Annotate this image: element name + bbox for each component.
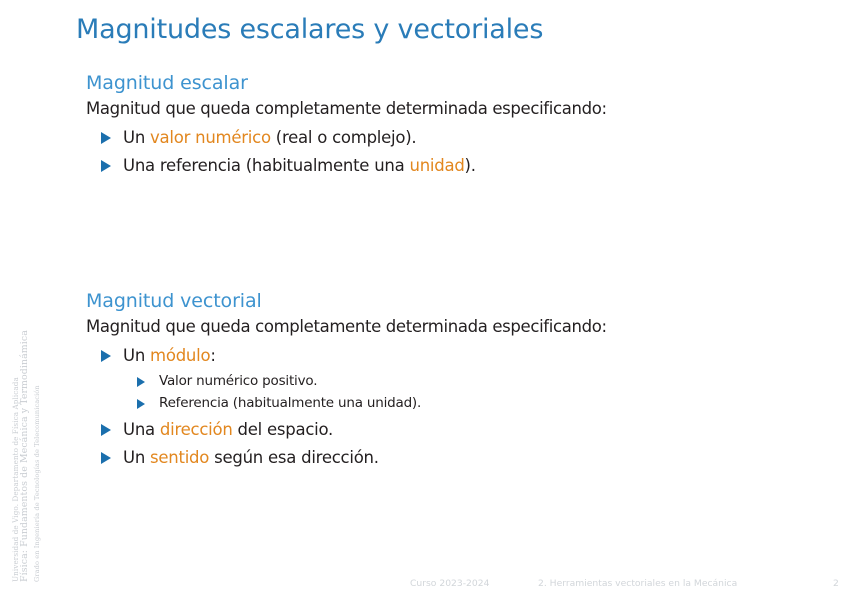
sidebar-institution-strip: Universidad de Vigo. Departamento de Fís… — [0, 0, 46, 600]
sub-bullet-list-modulo: Valor numérico positivo. Referencia (hab… — [123, 371, 826, 415]
triangle-bullet-icon — [101, 132, 111, 144]
sidebar-line-course: Física: Fundamentos de Mecánica y Termod… — [19, 330, 30, 582]
slide-canvas: Universidad de Vigo. Departamento de Fís… — [0, 0, 848, 600]
section-intro-vectorial: Magnitud que queda completamente determi… — [86, 317, 826, 336]
item-text-pre: Una — [123, 420, 160, 439]
triangle-bullet-icon — [101, 424, 111, 436]
item-keyword: módulo — [150, 346, 210, 365]
list-item: Un sentido según esa dirección. — [86, 444, 826, 472]
footer-page-number: 2 — [833, 578, 839, 589]
item-text-post: : — [210, 346, 215, 365]
footer-course: Curso 2023-2024 — [410, 578, 489, 589]
section-heading-escalar: Magnitud escalar — [86, 72, 826, 94]
triangle-bullet-icon — [101, 350, 111, 362]
triangle-bullet-icon — [137, 377, 145, 387]
page-title: Magnitudes escalares y vectoriales — [76, 14, 543, 45]
item-keyword: unidad — [409, 156, 464, 175]
item-text-post: del espacio. — [233, 420, 334, 439]
bullet-list-escalar: Un valor numérico (real o complejo). Una… — [86, 124, 826, 179]
section-heading-vectorial: Magnitud vectorial — [86, 290, 826, 312]
section-magnitud-vectorial: Magnitud vectorial Magnitud que queda co… — [86, 290, 826, 472]
sub-item-text: Valor numérico positivo. — [159, 373, 317, 389]
item-text-pre: Un — [123, 346, 150, 365]
section-intro-escalar: Magnitud que queda completamente determi… — [86, 99, 826, 118]
list-item: Una dirección del espacio. — [86, 416, 826, 444]
list-item: Un valor numérico (real o complejo). — [86, 124, 826, 152]
slide-footer: Curso 2023-2024 2. Herramientas vectoria… — [0, 578, 848, 594]
triangle-bullet-icon — [101, 160, 111, 172]
list-item: Valor numérico positivo. — [123, 371, 826, 393]
triangle-bullet-icon — [101, 452, 111, 464]
item-text-post: según esa dirección. — [209, 448, 379, 467]
item-text-post: ). — [465, 156, 476, 175]
footer-section-title: 2. Herramientas vectoriales en la Mecáni… — [538, 578, 737, 589]
triangle-bullet-icon — [137, 399, 145, 409]
sidebar-vertical-text-group: Universidad de Vigo. Departamento de Fís… — [0, 182, 46, 582]
list-item: Un módulo: Valor numérico positivo. Refe… — [86, 342, 826, 414]
list-item: Referencia (habitualmente una unidad). — [123, 393, 826, 415]
sub-item-text: Referencia (habitualmente una unidad). — [159, 395, 421, 411]
section-magnitud-escalar: Magnitud escalar Magnitud que queda comp… — [86, 72, 826, 179]
bullet-list-vectorial: Un módulo: Valor numérico positivo. Refe… — [86, 342, 826, 472]
item-text-pre: Un — [123, 128, 150, 147]
item-keyword: dirección — [160, 420, 233, 439]
item-text-post: (real o complejo). — [271, 128, 417, 147]
item-keyword: valor numérico — [150, 128, 271, 147]
item-text-pre: Una referencia (habitualmente una — [123, 156, 409, 175]
sidebar-line-degree: Grado en Ingeniería de Tecnologías de Te… — [33, 385, 41, 582]
item-text-pre: Un — [123, 448, 150, 467]
item-keyword: sentido — [150, 448, 209, 467]
list-item: Una referencia (habitualmente una unidad… — [86, 152, 826, 180]
